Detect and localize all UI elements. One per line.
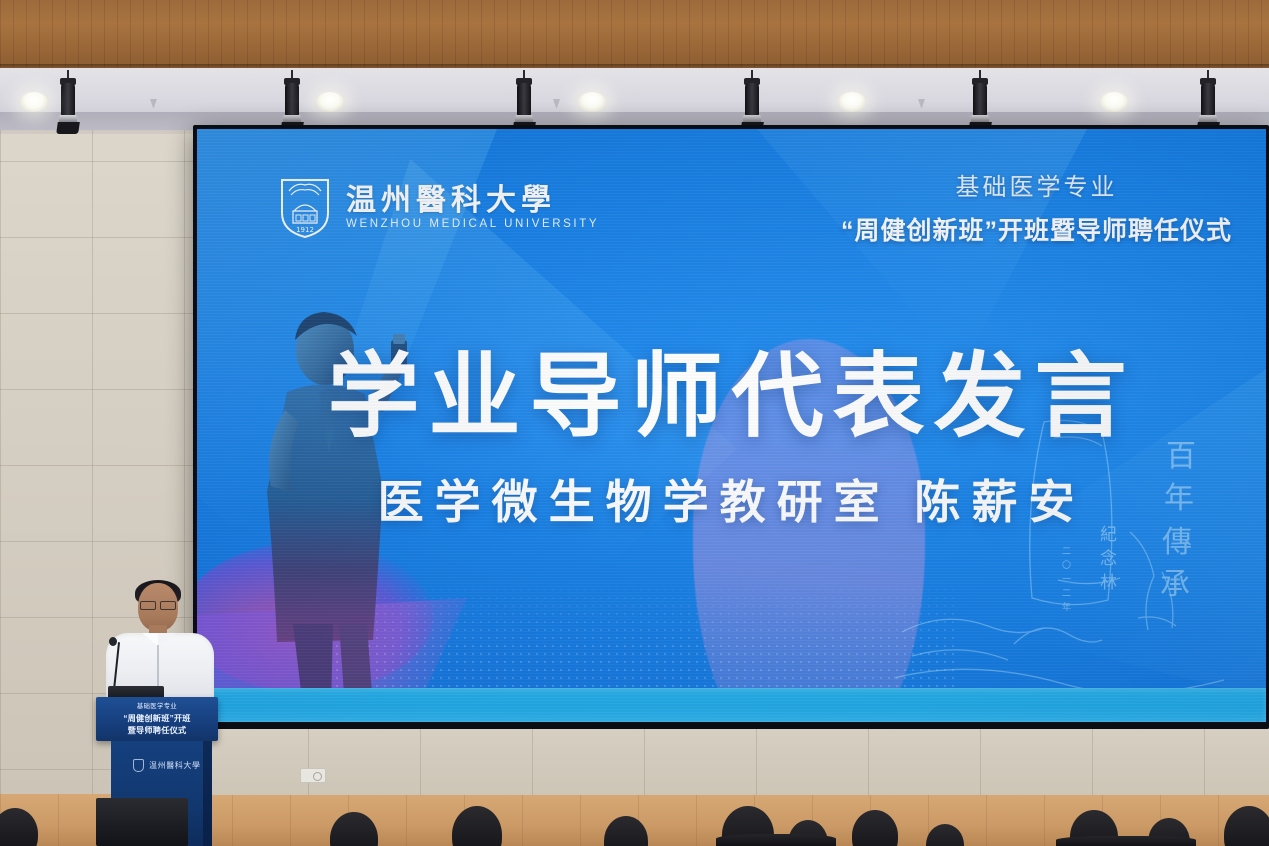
svg-text:承: 承 — [1160, 567, 1190, 602]
monument-line-art: 百 年 傳 承 紀 念 林 二 〇 一 二 年 — [894, 412, 1224, 712]
ceiling-downlight — [838, 92, 866, 112]
ceiling-downlight — [1100, 92, 1128, 112]
led-screen-content: 百 年 傳 承 紀 念 林 二 〇 一 二 年 — [197, 129, 1266, 722]
event-header-line2: “周健创新班”开班暨导师聘任仪式 — [841, 211, 1232, 247]
led-screen[interactable]: 百 年 傳 承 紀 念 林 二 〇 一 二 年 — [193, 125, 1269, 729]
event-header: 基础医学专业 “周健创新班”开班暨导师聘任仪式 — [841, 173, 1232, 247]
slide-title: 学业导师代表发言 — [197, 351, 1266, 443]
stage-front-wall — [196, 729, 1269, 795]
slide-subtitle: 医学微生物学教研室 陈薪安 — [197, 479, 1266, 525]
audience-shoulders — [716, 834, 836, 846]
podium-sign: 基础医学专业 “周健创新班”开班 暨导师聘任仪式 — [96, 697, 218, 741]
svg-text:二: 二 — [1062, 547, 1071, 557]
event-header-line1: 基础医学专业 — [841, 173, 1232, 203]
stage-equipment-case — [96, 798, 188, 846]
svg-text:〇: 〇 — [1062, 560, 1071, 571]
podium-side-panel — [203, 741, 212, 846]
podium-university-name: 温州醫科大學 — [149, 760, 201, 771]
podium-sign-line3: 暨导师聘任仪式 — [96, 727, 218, 735]
svg-text:紀: 紀 — [1100, 525, 1117, 545]
podium-crest-icon — [133, 759, 144, 772]
svg-text:一: 一 — [1062, 575, 1071, 585]
svg-text:年: 年 — [1062, 601, 1071, 613]
svg-text:傳: 傳 — [1162, 525, 1192, 560]
podium-sign-line1: 基础医学专业 — [96, 704, 218, 710]
speaker-person — [104, 583, 216, 699]
svg-text:1912: 1912 — [296, 226, 314, 234]
bg-shape-triangle-c — [757, 129, 1087, 369]
ceiling-downlight — [578, 92, 606, 112]
bottom-cyan-band — [197, 688, 1266, 722]
svg-text:念: 念 — [1100, 548, 1117, 569]
university-crest-icon: 1912 — [279, 177, 331, 239]
podium-sign-line2: “周健创新班”开班 — [96, 715, 218, 723]
microphone-icon — [109, 637, 117, 646]
ceiling-downlight — [20, 92, 48, 112]
ceiling-wood-panel — [0, 0, 1269, 68]
svg-text:百: 百 — [1166, 439, 1196, 474]
svg-text:林: 林 — [1100, 573, 1117, 593]
wall-outlet — [300, 768, 326, 783]
university-logo: 1912 温州醫科大學 WENZHOU MEDICAL UNIVERSITY — [279, 177, 599, 239]
ceiling-downlight — [316, 92, 344, 112]
university-name-cn: 温州醫科大學 — [346, 186, 599, 216]
audience-shoulders — [1056, 836, 1196, 846]
svg-text:二: 二 — [1062, 589, 1071, 599]
university-name-en: WENZHOU MEDICAL UNIVERSITY — [346, 218, 599, 230]
scene-photo: 百 年 傳 承 紀 念 林 二 〇 一 二 年 — [0, 0, 1269, 846]
glasses-icon — [140, 601, 176, 608]
